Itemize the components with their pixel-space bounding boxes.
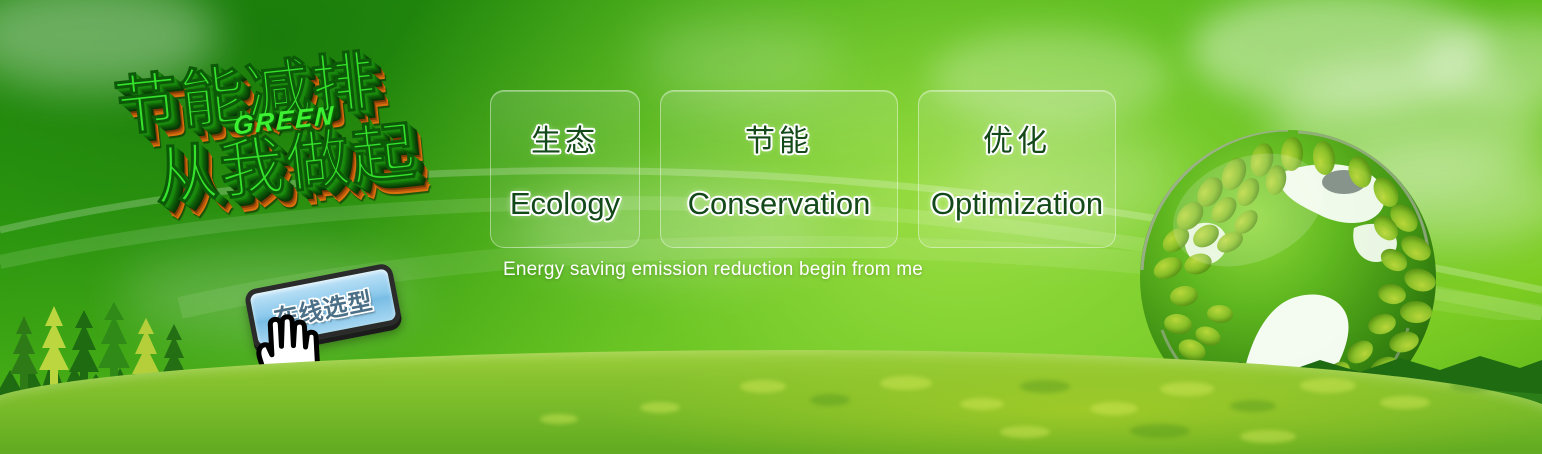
feature-card-optimization-en: Optimization [931,186,1103,222]
tagline-text: Energy saving emission reduction begin f… [503,259,923,281]
online-selection-button-label: 在线选型 [271,280,376,333]
online-selection-button[interactable]: 在线选型 [243,262,402,351]
feature-card-optimization-cn: 优化 [983,116,1051,160]
feature-card-conservation-cn: 节能 [745,116,813,160]
feature-card-conservation[interactable]: 节能 Conservation [660,90,898,248]
cloud-icon [640,20,840,100]
eco-hero-banner: 节能减排 GREEN 从我做起 在线选型 生态 Ecology 节能 Conse… [0,0,1542,454]
cloud-icon [1190,0,1490,110]
feature-card-ecology-cn: 生态 [531,116,599,160]
feature-card-ecology[interactable]: 生态 Ecology [490,90,640,248]
cloud-icon [1420,20,1542,104]
online-selection-button-body[interactable]: 在线选型 [243,262,402,351]
feature-card-ecology-en: Ecology [510,186,620,222]
feature-card-optimization[interactable]: 优化 Optimization [918,90,1116,248]
feature-card-list: 生态 Ecology 节能 Conservation 优化 Optimizati… [490,90,1116,248]
feature-card-conservation-en: Conservation [688,186,871,222]
headline-3d-text: 节能减排 GREEN 从我做起 [85,14,507,285]
